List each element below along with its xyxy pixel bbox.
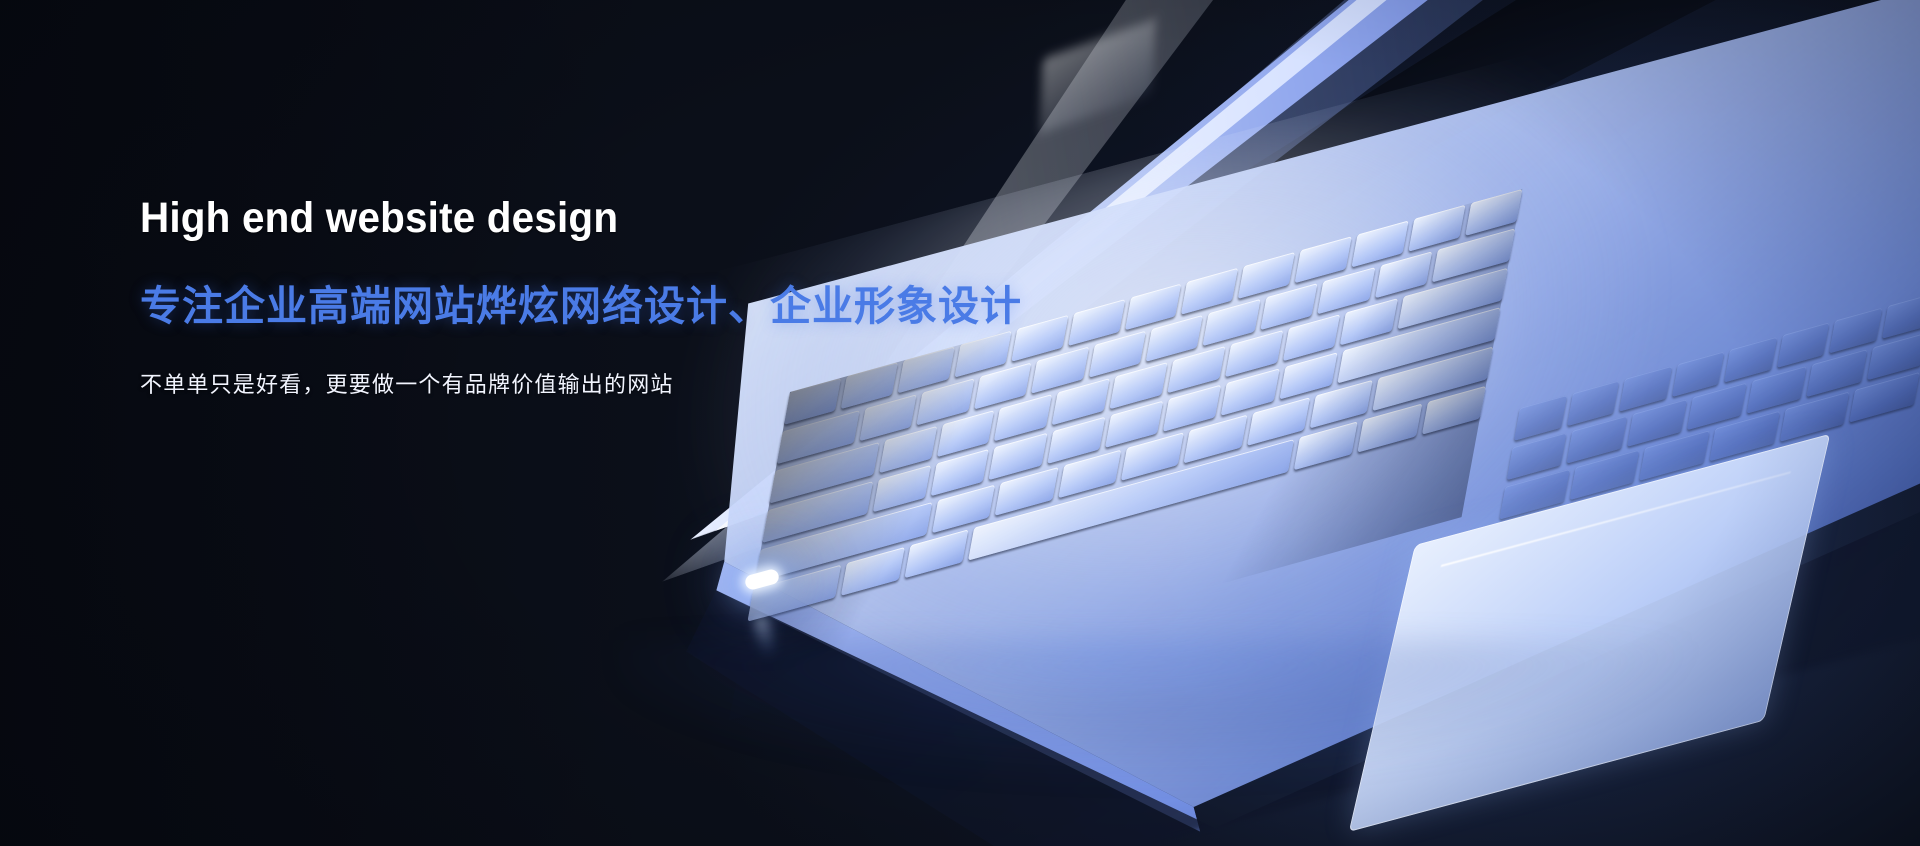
keyboard-key: [1724, 337, 1777, 383]
keyboard-key: [1709, 411, 1779, 462]
keyboard-key: [747, 565, 840, 622]
keyboard-key: [932, 485, 995, 534]
keyboard-key: [1432, 228, 1515, 282]
power-led-reflection: [747, 613, 782, 658]
laptop-deck-front-lip: [600, 0, 1920, 846]
keyboard-key: [769, 442, 879, 504]
keyboard-key: [777, 410, 860, 464]
keyboard-key: [1283, 314, 1341, 361]
power-led-indicator: [744, 568, 781, 591]
keyboard-key: [1203, 299, 1261, 346]
keyboard-key: [1167, 346, 1225, 393]
keyboard-key: [1260, 283, 1318, 330]
keyboard-key: [1514, 395, 1567, 441]
ambient-glow-top: [0, 0, 1920, 846]
keyboard-key: [1181, 268, 1238, 315]
keyboard-key: [1867, 332, 1920, 380]
keyboard-key: [1184, 415, 1247, 464]
keyboard-key: [1373, 346, 1493, 411]
keyboard-key: [989, 433, 1047, 480]
keyboard-row: [747, 386, 1485, 622]
keyboard-row: [1499, 372, 1919, 520]
keyboard-key: [1507, 432, 1567, 480]
keyboard-key: [1146, 315, 1204, 362]
keyboard-key: [1310, 380, 1373, 429]
subtitle-chinese: 不单单只是好看，更要做一个有品牌价值输出的网站: [140, 370, 1080, 401]
laptop-deck-underside-shadow: [600, 0, 1920, 846]
keyboard-key: [1639, 430, 1709, 481]
keyboard-row: [1514, 293, 1920, 441]
keyboard-key: [1088, 331, 1146, 378]
laptop-base-deck: [600, 0, 1920, 846]
keyboard-key: [1747, 366, 1807, 414]
keyboard-key: [1294, 421, 1358, 470]
keyboard-key: [1163, 384, 1221, 431]
keyboard-key: [1279, 352, 1337, 399]
keyboard-key: [1408, 205, 1465, 252]
keyboard-key: [840, 547, 904, 596]
keyboard-key: [1375, 251, 1433, 298]
keyboard-key: [1619, 366, 1672, 412]
keyboard-key: [1849, 372, 1919, 423]
keyboard-key: [904, 529, 968, 578]
keyboard-key: [1221, 368, 1279, 415]
keyboard-key: [1337, 307, 1500, 383]
keyboard-key: [1110, 362, 1168, 409]
laptop-lid-highlight-patch: [1039, 19, 1155, 134]
keyboard-key: [1247, 397, 1310, 446]
keyboard-key: [1225, 330, 1283, 377]
keyboard-key: [860, 394, 918, 441]
vignette-overlay: [0, 0, 1920, 846]
keyboard-key: [1882, 293, 1920, 339]
keyboard-key: [1058, 450, 1121, 499]
keyboard-key: [1358, 404, 1422, 453]
laptop-keyboard-far-rows: [1477, 293, 1920, 638]
keyboard-key: [755, 502, 933, 582]
keyboard-key: [1340, 298, 1398, 345]
keyboard-key: [1121, 432, 1184, 481]
keyboard-key: [1807, 349, 1867, 397]
keyboard-key: [1398, 268, 1508, 330]
desk-surface-reflection: [620, 640, 1920, 846]
keyboard-key: [1047, 417, 1105, 464]
trackpad-edge-highlight: [1441, 471, 1790, 566]
keyboard-key: [879, 426, 937, 473]
keyboard-key: [1125, 283, 1182, 330]
laptop-deck-surface: [600, 0, 1920, 846]
ambient-glow-right: [0, 0, 1920, 846]
headline-chinese: 专注企业高端网站烨炫网络设计、企业形象设计: [140, 282, 1080, 331]
keyboard-key: [1671, 351, 1724, 397]
keyboard-key: [995, 467, 1058, 516]
keyboard-key: [1499, 469, 1569, 520]
keyboard-key: [1295, 236, 1352, 283]
keyboard-row: [1507, 332, 1920, 480]
keyboard-key: [1105, 401, 1163, 448]
keyboard-key: [931, 449, 989, 496]
keyboard-key: [1422, 386, 1486, 435]
keyboard-key: [1465, 189, 1522, 236]
keyboard-key: [937, 410, 995, 457]
keyboard-key: [1567, 416, 1627, 464]
keyboard-key: [1777, 322, 1830, 368]
laptop-photo: [0, 0, 1920, 846]
keyboard-key: [1627, 399, 1687, 447]
keyboard-spacebar: [968, 439, 1294, 560]
keyboard-key: [1238, 252, 1295, 299]
laptop-trackpad: [1349, 434, 1831, 832]
keyboard-key: [1317, 267, 1375, 314]
keyboard-key: [762, 481, 873, 543]
keyboard-key: [1352, 220, 1409, 267]
keyboard-key: [1687, 382, 1747, 430]
laptop-deck-glow: [532, 0, 1920, 846]
keyboard-key: [1829, 308, 1882, 354]
headline-english: High end website design: [140, 196, 1024, 241]
keyboard-key: [1566, 380, 1619, 426]
hero-copy: High end website design 专注企业高端网站烨炫网络设计、企…: [140, 196, 1080, 401]
keyboard-key: [1569, 450, 1639, 501]
hero-banner: High end website design 专注企业高端网站烨炫网络设计、企…: [0, 0, 1920, 846]
keyboard-key: [872, 465, 930, 512]
keyboard-key: [1779, 391, 1849, 442]
